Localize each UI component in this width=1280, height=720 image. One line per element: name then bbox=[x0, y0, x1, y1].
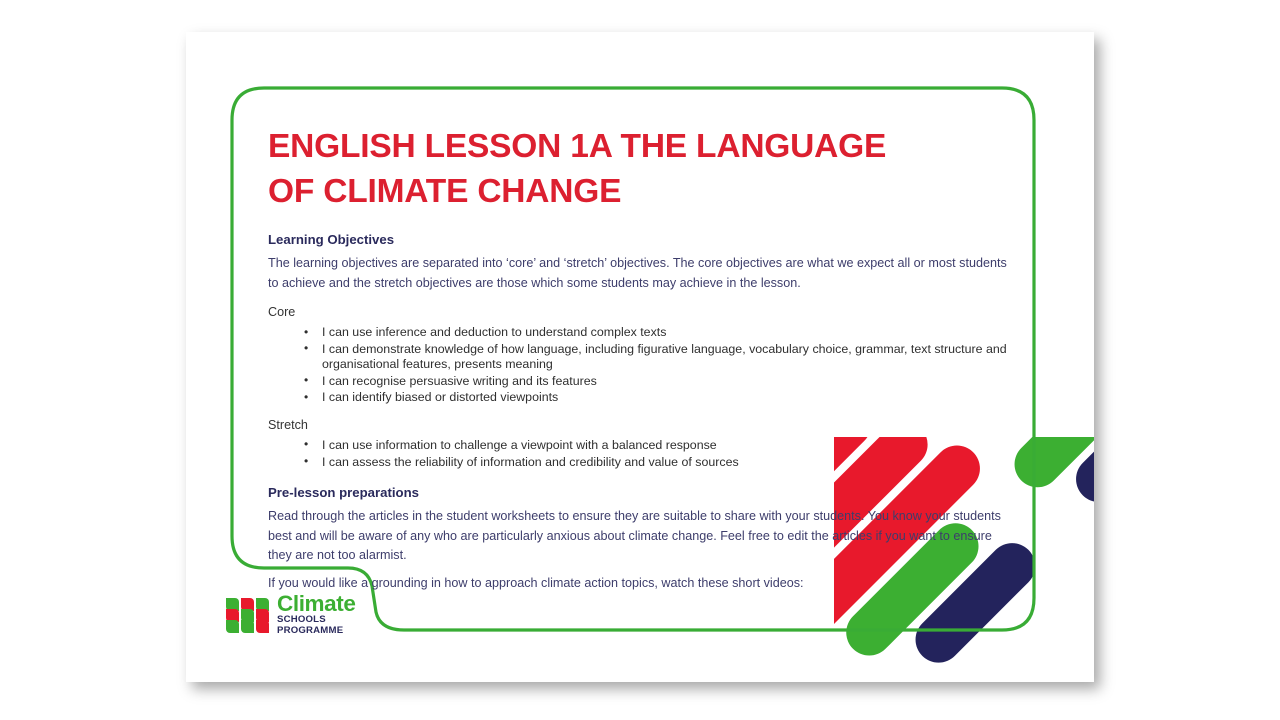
list-item: I can use inference and deduction to und… bbox=[302, 325, 1014, 341]
list-item: I can assess the reliability of informat… bbox=[302, 455, 1014, 471]
pre-lesson-heading: Pre-lesson preparations bbox=[268, 484, 1014, 502]
page-title: ENGLISH LESSON 1A THE LANGUAGE OF CLIMAT… bbox=[268, 124, 928, 214]
pre-lesson-paragraph: Read through the articles in the student… bbox=[268, 507, 1013, 566]
logo-wordmark: Climate SCHOOLS PROGRAMME bbox=[277, 593, 355, 636]
list-item: I can demonstrate knowledge of how langu… bbox=[302, 342, 1014, 373]
learning-objectives-intro: The learning objectives are separated in… bbox=[268, 254, 1013, 293]
pre-lesson-videos-line: If you would like a grounding in how to … bbox=[268, 574, 1013, 594]
logo-subline-schools: SCHOOLS bbox=[277, 615, 355, 626]
stretch-objectives-list: I can use information to challenge a vie… bbox=[302, 438, 1014, 470]
logo-subline-programme: PROGRAMME bbox=[277, 626, 355, 637]
logo-word-climate: Climate bbox=[277, 593, 355, 615]
list-item: I can use information to challenge a vie… bbox=[302, 438, 1014, 454]
list-item: I can identify biased or distorted viewp… bbox=[302, 390, 1014, 406]
list-item: I can recognise persuasive writing and i… bbox=[302, 374, 1014, 390]
learning-objectives-heading: Learning Objectives bbox=[268, 231, 1014, 249]
learning-objectives-section: Learning Objectives The learning objecti… bbox=[268, 231, 1014, 470]
slide-content: ENGLISH LESSON 1A THE LANGUAGE OF CLIMAT… bbox=[268, 124, 1014, 593]
climate-leaf-grid-icon bbox=[226, 597, 270, 633]
stretch-label: Stretch bbox=[268, 416, 1014, 435]
brand-logo: Climate SCHOOLS PROGRAMME bbox=[226, 593, 355, 636]
content-frame: ENGLISH LESSON 1A THE LANGUAGE OF CLIMAT… bbox=[230, 86, 1036, 634]
pre-lesson-section: Pre-lesson preparations Read through the… bbox=[268, 484, 1014, 593]
slide-viewer: ENGLISH LESSON 1A THE LANGUAGE OF CLIMAT… bbox=[0, 0, 1280, 720]
slide-card: ENGLISH LESSON 1A THE LANGUAGE OF CLIMAT… bbox=[186, 32, 1094, 682]
core-label: Core bbox=[268, 303, 1014, 322]
core-objectives-list: I can use inference and deduction to und… bbox=[302, 325, 1014, 406]
